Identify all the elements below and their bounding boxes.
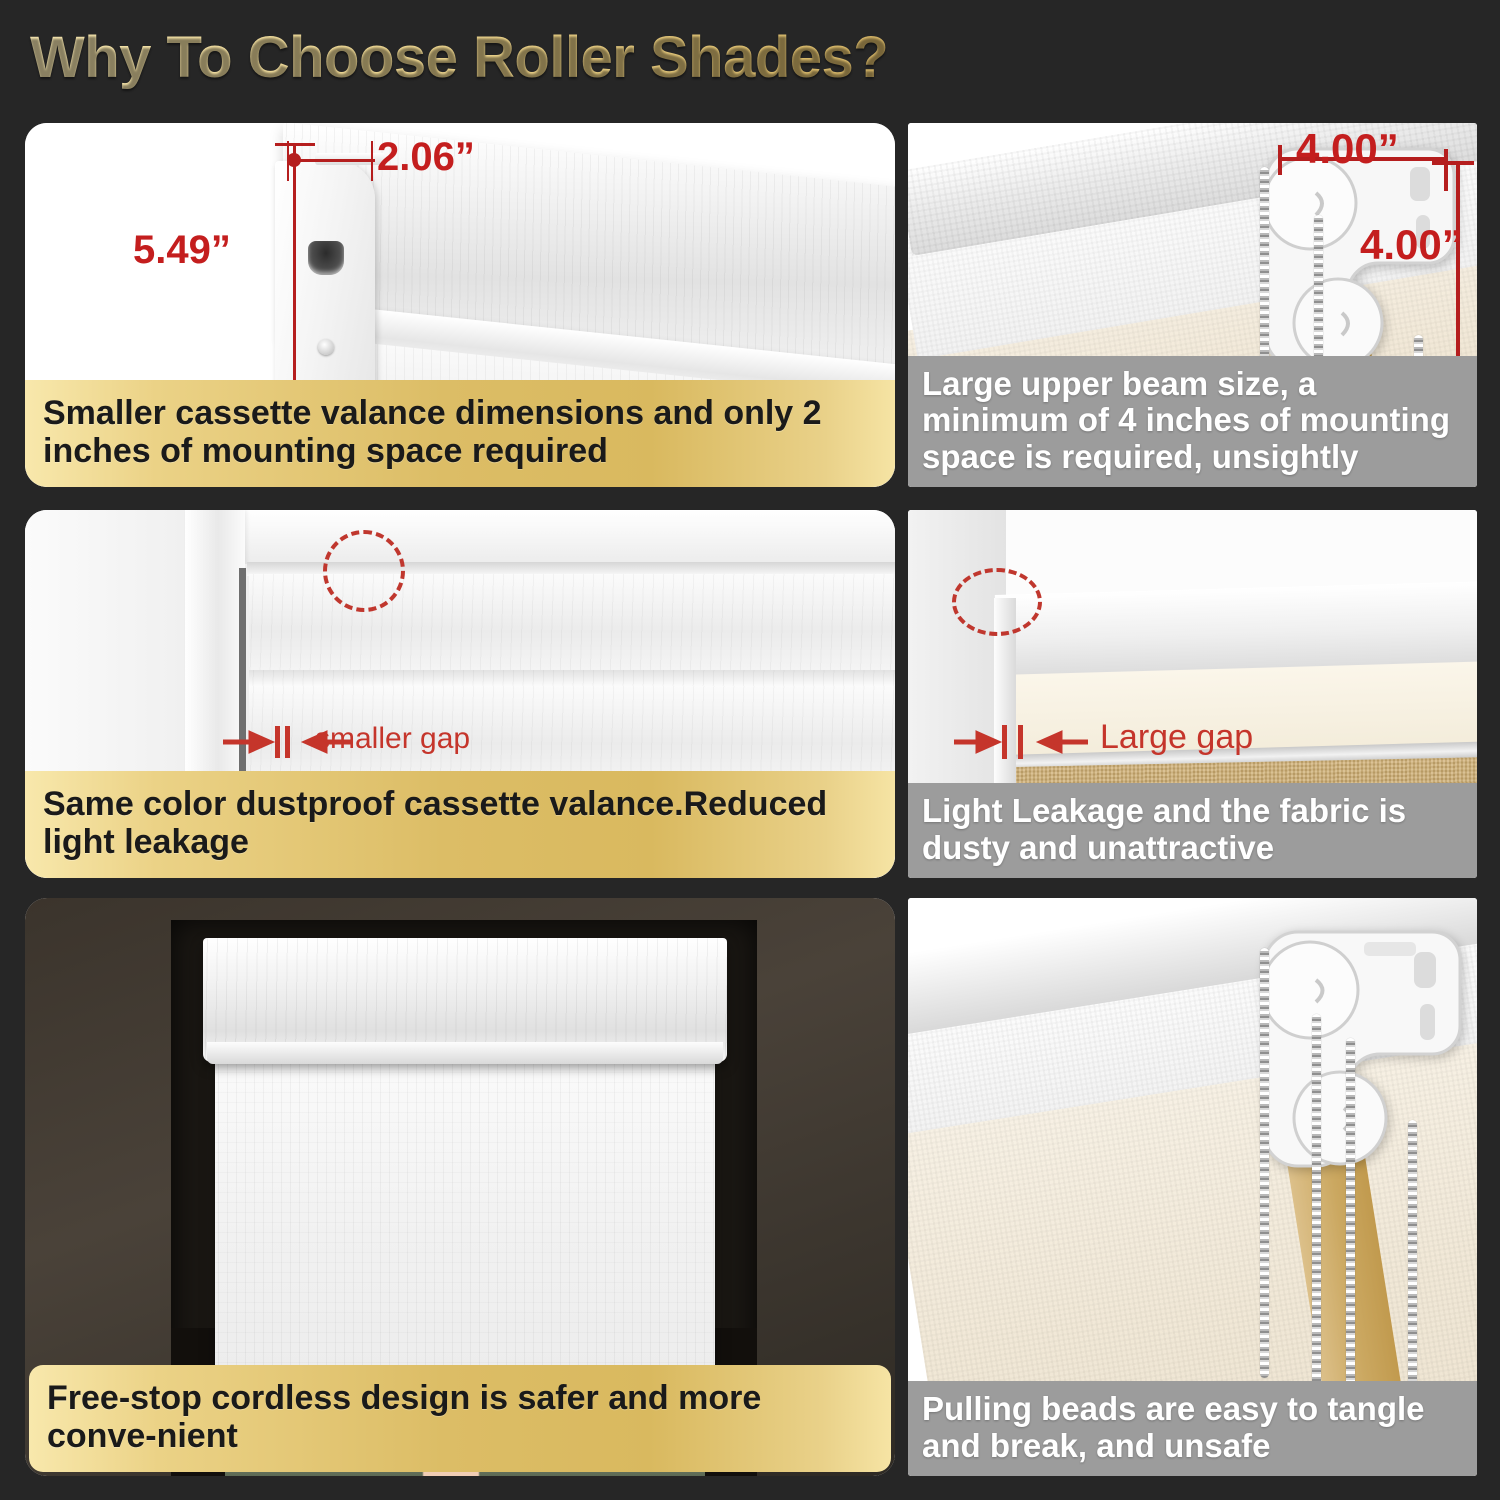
- page-title: Why To Choose Roller Shades?: [30, 22, 1130, 94]
- endcap-screw: [318, 339, 334, 355]
- panel-dustproof-cassette: smaller gap Same color dustproof cassett…: [25, 510, 895, 878]
- bead-chain-2: [1312, 1014, 1321, 1394]
- bracket-width-label: 4.00”: [1296, 125, 1399, 173]
- headrail-lip: [207, 1042, 723, 1064]
- panel-pulling-beads: Pulling beads are easy to tangle and bre…: [908, 898, 1477, 1476]
- bead-chain-4: [1408, 1120, 1417, 1390]
- bracket-width-tick-left: [1278, 145, 1282, 175]
- window-frame-top: [185, 510, 895, 564]
- shade-seam-1: [249, 670, 895, 686]
- width-dimension-label: 2.06”: [377, 135, 475, 180]
- highlight-circle-icon: [952, 568, 1042, 636]
- smaller-gap-label: smaller gap: [315, 722, 470, 756]
- panel-5-caption: Free-stop cordless design is safer and m…: [29, 1365, 891, 1473]
- height-dim-tick-top: [275, 143, 315, 146]
- panel-1-caption: Smaller cassette valance dimensions and …: [25, 380, 895, 488]
- panel-6-caption: Pulling beads are easy to tangle and bre…: [908, 1381, 1477, 1476]
- panel-4-caption: Light Leakage and the fabric is dusty an…: [908, 783, 1477, 878]
- endcap-slot: [308, 241, 344, 275]
- highlight-circle-icon: [323, 530, 405, 612]
- panel-light-leakage: Large gap Light Leakage and the fabric i…: [908, 510, 1477, 878]
- panel-cordless-design: Free-stop cordless design is safer and m…: [25, 898, 895, 1476]
- large-gap-label: Large gap: [1100, 718, 1253, 757]
- bead-chain-1: [1260, 948, 1269, 1378]
- panel-large-upper-beam: 4.00” 4.00” Large upper beam size, a min…: [908, 123, 1477, 487]
- height-dimension-label: 5.49”: [133, 228, 231, 273]
- panel-3-caption: Same color dustproof cassette valance.Re…: [25, 771, 895, 879]
- bracket-height-tick-top: [1432, 161, 1474, 165]
- bracket-width-tick-right: [1444, 149, 1448, 191]
- bracket-height-dim-line: [1456, 161, 1460, 379]
- gap-arrows: [952, 722, 1102, 762]
- roller-bracket: [1256, 924, 1477, 1204]
- roller-shade-fabric: [215, 1064, 715, 1402]
- panel-smaller-cassette: 2.06” 5.49” Smaller cassette valance dim…: [25, 123, 895, 487]
- bead-chain-3: [1346, 1038, 1355, 1388]
- panel-2-caption: Large upper beam size, a minimum of 4 in…: [908, 356, 1477, 487]
- bracket-height-label: 4.00”: [1360, 221, 1463, 269]
